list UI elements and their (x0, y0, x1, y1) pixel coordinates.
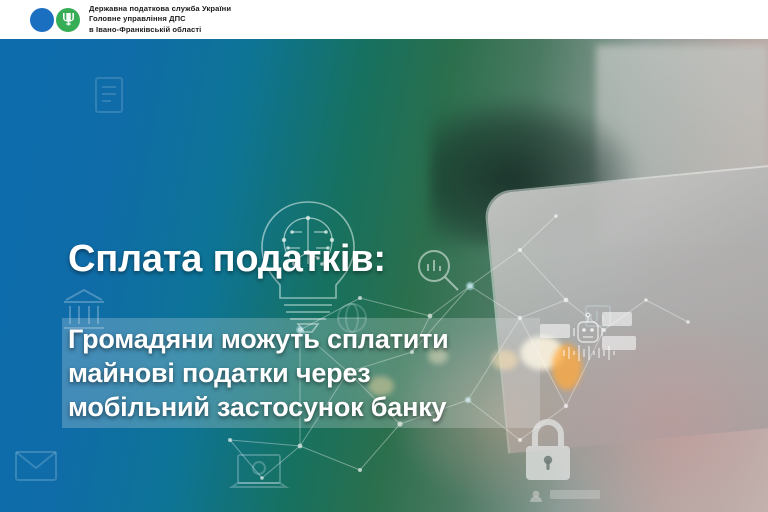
page-subtitle: Громадяни можуть сплатити майнові податк… (68, 322, 568, 424)
agency-name-line-2: Головне управління ДПС (89, 14, 231, 25)
banner-root: Сплата податків: Громадяни можуть сплати… (0, 0, 768, 512)
agency-name-line-3: в Івано-Франківській області (89, 25, 231, 36)
tryzub-trident-icon (62, 12, 75, 27)
login-form-overlay (530, 490, 600, 512)
subtitle-line-2: майнові податки через (68, 356, 568, 390)
subtitle-line-1: Громадяни можуть сплатити (68, 322, 568, 356)
logo-blue-circle-icon (30, 8, 54, 32)
page-title: Сплата податків: (68, 238, 386, 281)
agency-logo[interactable] (30, 6, 82, 34)
site-header: Державна податкова служба України Головн… (0, 0, 768, 39)
agency-name-line-1: Державна податкова служба України (89, 4, 231, 15)
agency-name: Державна податкова служба України Головн… (89, 4, 231, 36)
subtitle-line-3: мобільний застосунок банку (68, 390, 568, 424)
logo-green-circle-icon (56, 8, 80, 32)
